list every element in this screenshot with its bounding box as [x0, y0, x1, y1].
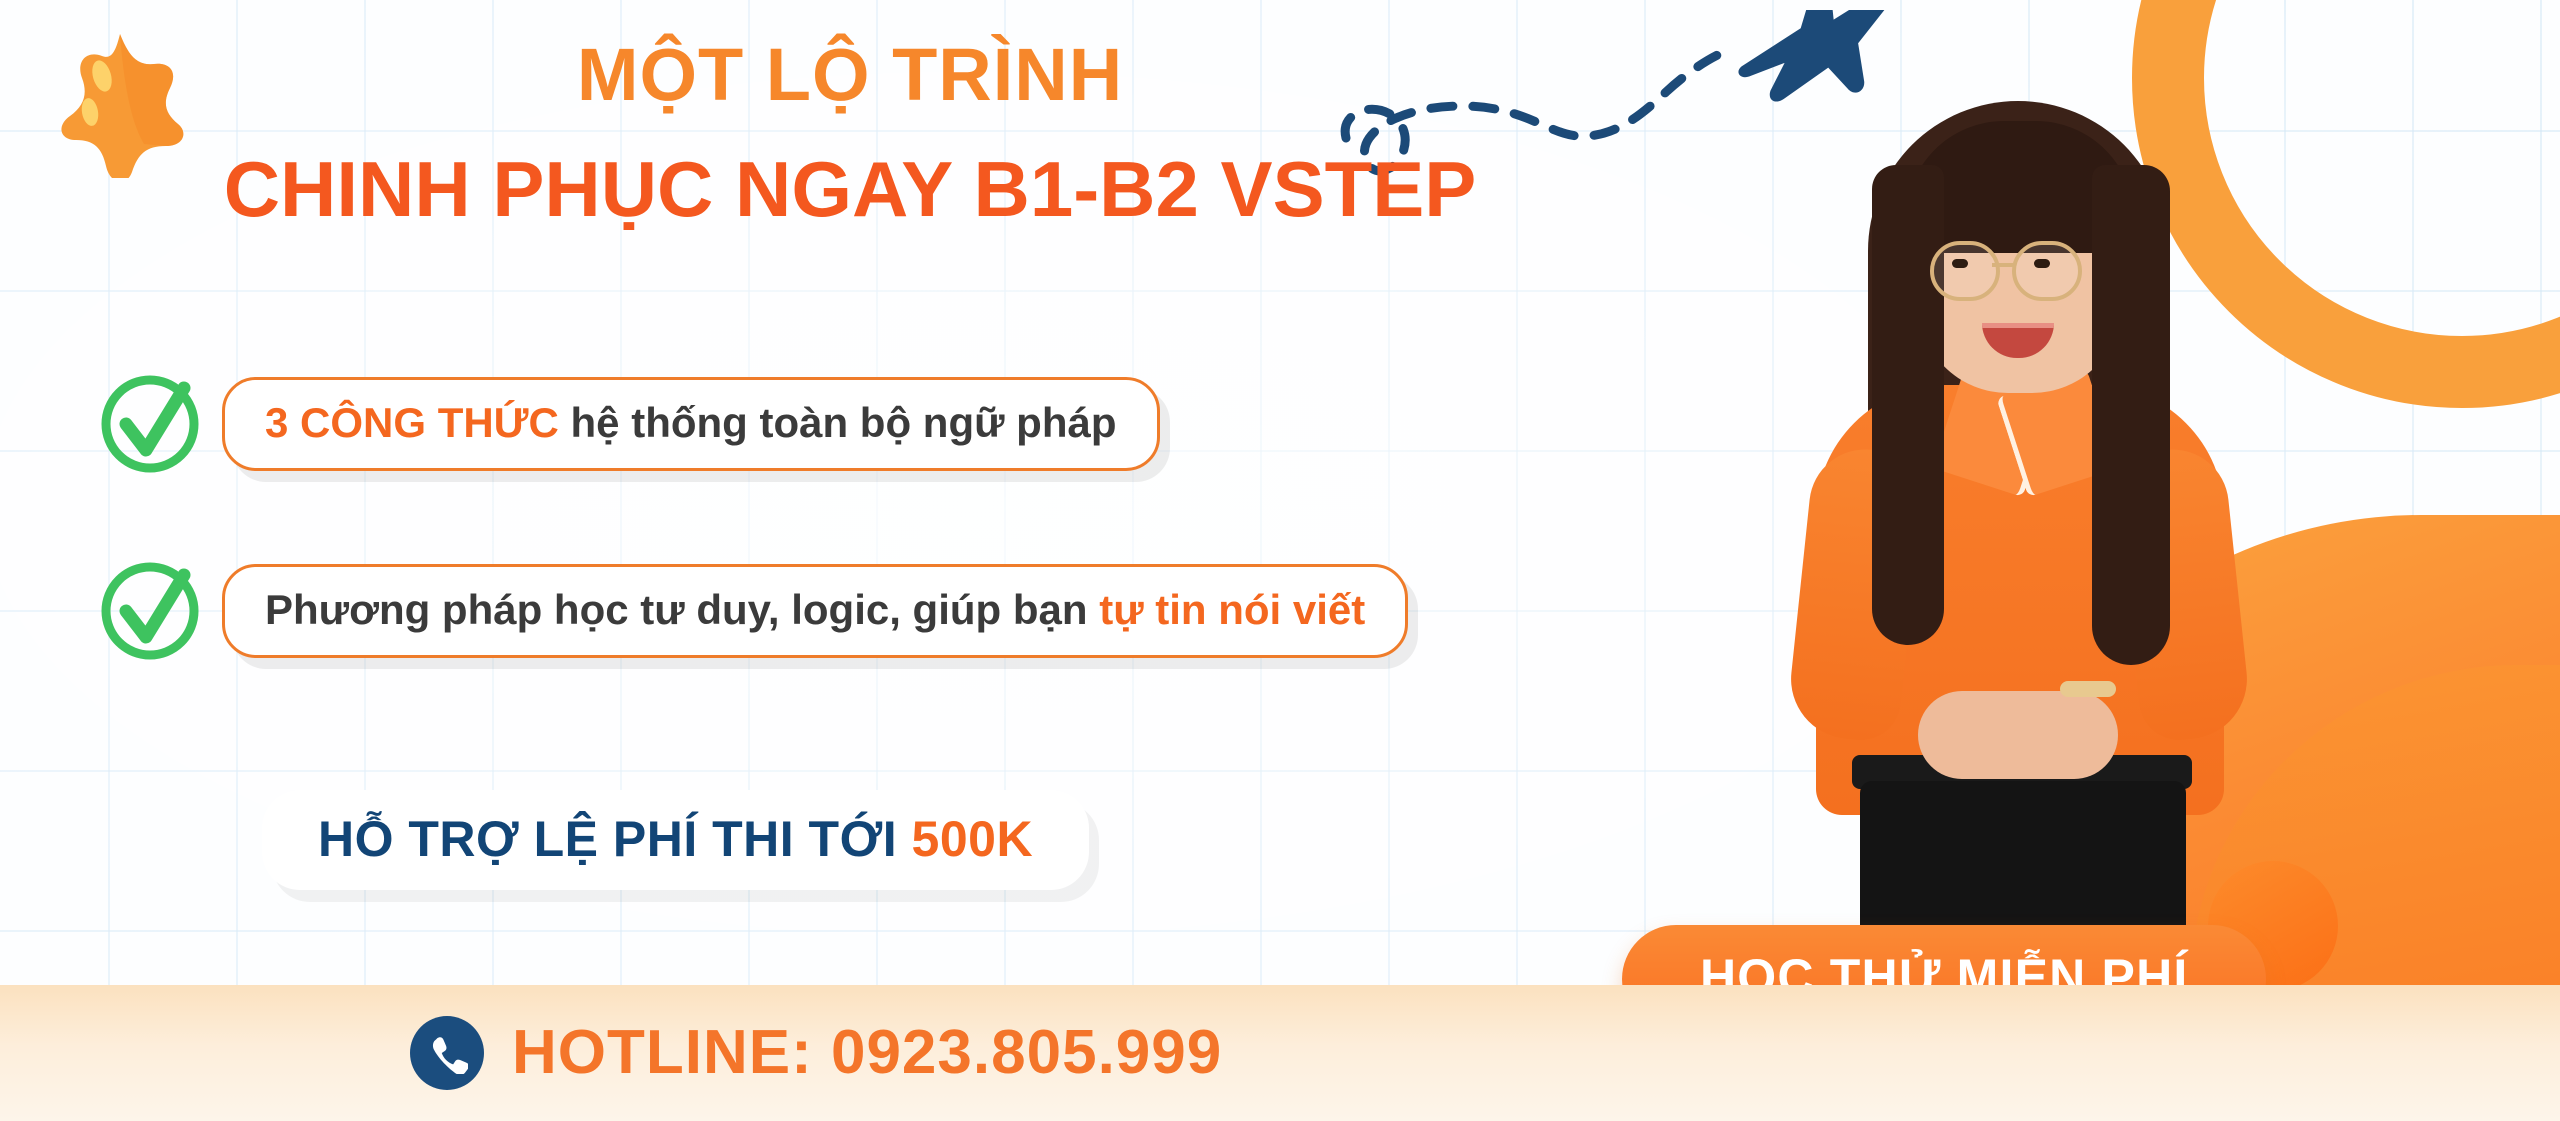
feature-pill-1: 3 CÔNG THỨC hệ thống toàn bộ ngữ pháp — [222, 377, 1160, 471]
person-hands — [1918, 691, 2118, 779]
support-amount: 500K — [912, 811, 1034, 867]
support-pill: HỖ TRỢ LỆ PHÍ THI TỚI 500K — [262, 790, 1089, 890]
hotline-bar: HOTLINE: 0923.805.999 — [0, 985, 2560, 1121]
feature-pill-2: Phương pháp học tư duy, logic, giúp bạn … — [222, 564, 1408, 658]
person-bracelet — [2060, 681, 2116, 697]
check-circle-icon — [96, 370, 204, 478]
phone-icon[interactable] — [410, 1016, 484, 1090]
hotline-text: HOTLINE: 0923.805.999 — [512, 1022, 1222, 1084]
person-glasses-bridge — [1992, 263, 2014, 267]
feature-row-2: Phương pháp học tư duy, logic, giúp bạn … — [96, 557, 1408, 665]
person-glasses-right — [2012, 241, 2082, 301]
person-glasses-left — [1930, 241, 2000, 301]
star-icon — [58, 28, 188, 178]
support-label: HỖ TRỢ LỆ PHÍ THI TỚI — [318, 811, 912, 867]
feature-row-1: 3 CÔNG THỨC hệ thống toàn bộ ngữ pháp — [96, 370, 1160, 478]
feature-1-text: hệ thống toàn bộ ngữ pháp — [559, 399, 1117, 446]
person-hair-side-right — [2092, 165, 2170, 665]
check-circle-icon — [96, 557, 204, 665]
promo-banner: MỘT LỘ TRÌNH CHINH PHỤC NGAY B1-B2 VSTEP… — [0, 0, 2560, 1121]
person-eye-left — [1952, 259, 1968, 268]
female-teacher-photo — [1760, 55, 2290, 985]
person-hair-side-left — [1872, 165, 1944, 645]
support-row: HỖ TRỢ LỆ PHÍ THI TỚI 500K — [262, 790, 1089, 890]
feature-1-highlight: 3 CÔNG THỨC — [265, 399, 559, 446]
feature-2-text: Phương pháp học tư duy, logic, giúp bạn — [265, 586, 1099, 633]
person-eye-right — [2034, 259, 2050, 268]
dashed-flight-path — [1345, 48, 1734, 171]
feature-2-highlight: tự tin nói viết — [1099, 586, 1365, 633]
